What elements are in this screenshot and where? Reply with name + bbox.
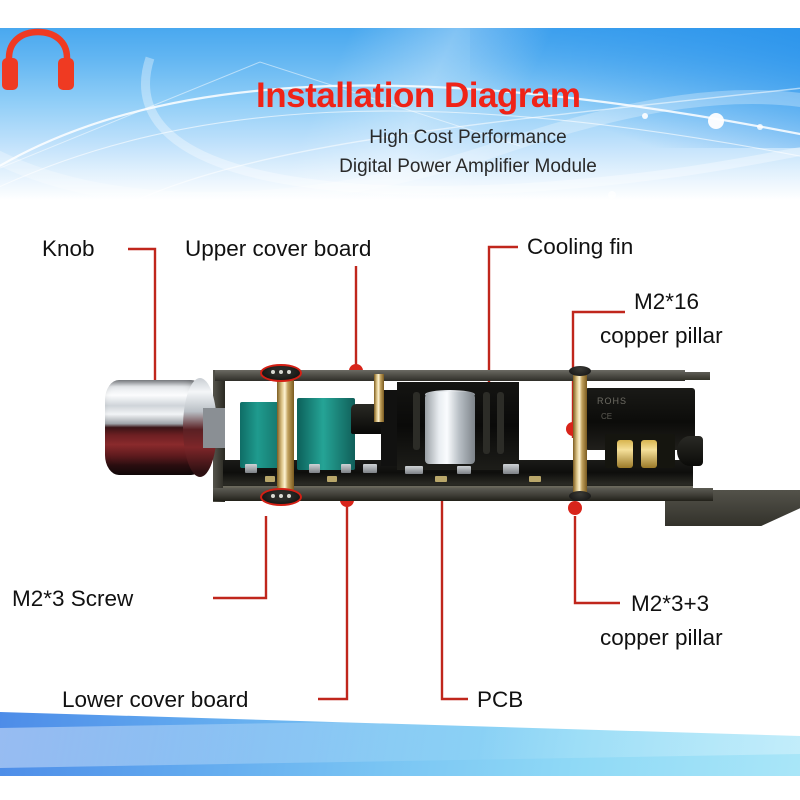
m2x16-copper-pillar — [573, 374, 587, 498]
label-cooling-fin: Cooling fin — [527, 233, 633, 260]
solder-pad — [529, 476, 541, 482]
solder-pad — [327, 476, 337, 482]
label-upper-cover-board: Upper cover board — [185, 235, 371, 262]
header-banner: Installation Diagram High Cost Performan… — [0, 28, 800, 200]
heatsink-fin — [497, 392, 504, 454]
relay-ce-mark: CE — [601, 412, 612, 421]
screw-cap-top — [569, 366, 591, 376]
terminal-block — [605, 434, 675, 468]
headphone-icon — [0, 28, 76, 94]
terminal-screw-1 — [617, 440, 633, 468]
smd-part — [341, 464, 351, 473]
footer-gradient-band — [0, 706, 800, 776]
solder-pad — [435, 476, 447, 482]
copper-pillar-small — [374, 374, 384, 422]
smd-part — [457, 466, 471, 474]
subtitle-line-1: High Cost Performance — [0, 127, 800, 149]
subtitle-line-2: Digital Power Amplifier Module — [0, 156, 800, 178]
smd-part — [309, 464, 320, 473]
m2x3p3-copper-pillar — [277, 374, 294, 498]
relay-rohs-mark: ROHS — [597, 396, 627, 406]
amplifier-board-illustration: ROHS CE — [105, 360, 725, 530]
green-capacitor-2 — [297, 398, 355, 470]
electrolytic-capacitor — [425, 392, 475, 464]
heatsink-fin — [483, 392, 490, 454]
installation-diagram-page: Installation Diagram High Cost Performan… — [0, 0, 800, 800]
smd-part — [363, 464, 377, 473]
m2x3-screw-top — [260, 364, 302, 382]
terminal-screw-2 — [641, 440, 657, 468]
label-m2x3p3-pillar-line1: M2*3+3 — [631, 590, 709, 617]
smd-part — [503, 464, 519, 474]
solder-pad — [265, 476, 275, 482]
label-m2x3-screw: M2*3 Screw — [12, 585, 133, 612]
dc-power-jack — [677, 436, 703, 466]
knob-shaft — [203, 408, 225, 448]
smd-part — [405, 466, 423, 474]
label-m2x16-pillar-line2: copper pillar — [600, 322, 723, 349]
upper-cover-board-right — [680, 372, 710, 380]
label-knob: Knob — [42, 235, 95, 262]
page-title: Installation Diagram — [256, 76, 581, 116]
screw-cap-bottom — [569, 491, 591, 501]
smd-part — [245, 464, 257, 473]
label-m2x3p3-pillar-line2: copper pillar — [600, 624, 723, 651]
label-m2x16-pillar-line1: M2*16 — [634, 288, 699, 315]
heatsink-fin — [413, 392, 420, 450]
m2x3-screw-bottom — [260, 488, 302, 506]
